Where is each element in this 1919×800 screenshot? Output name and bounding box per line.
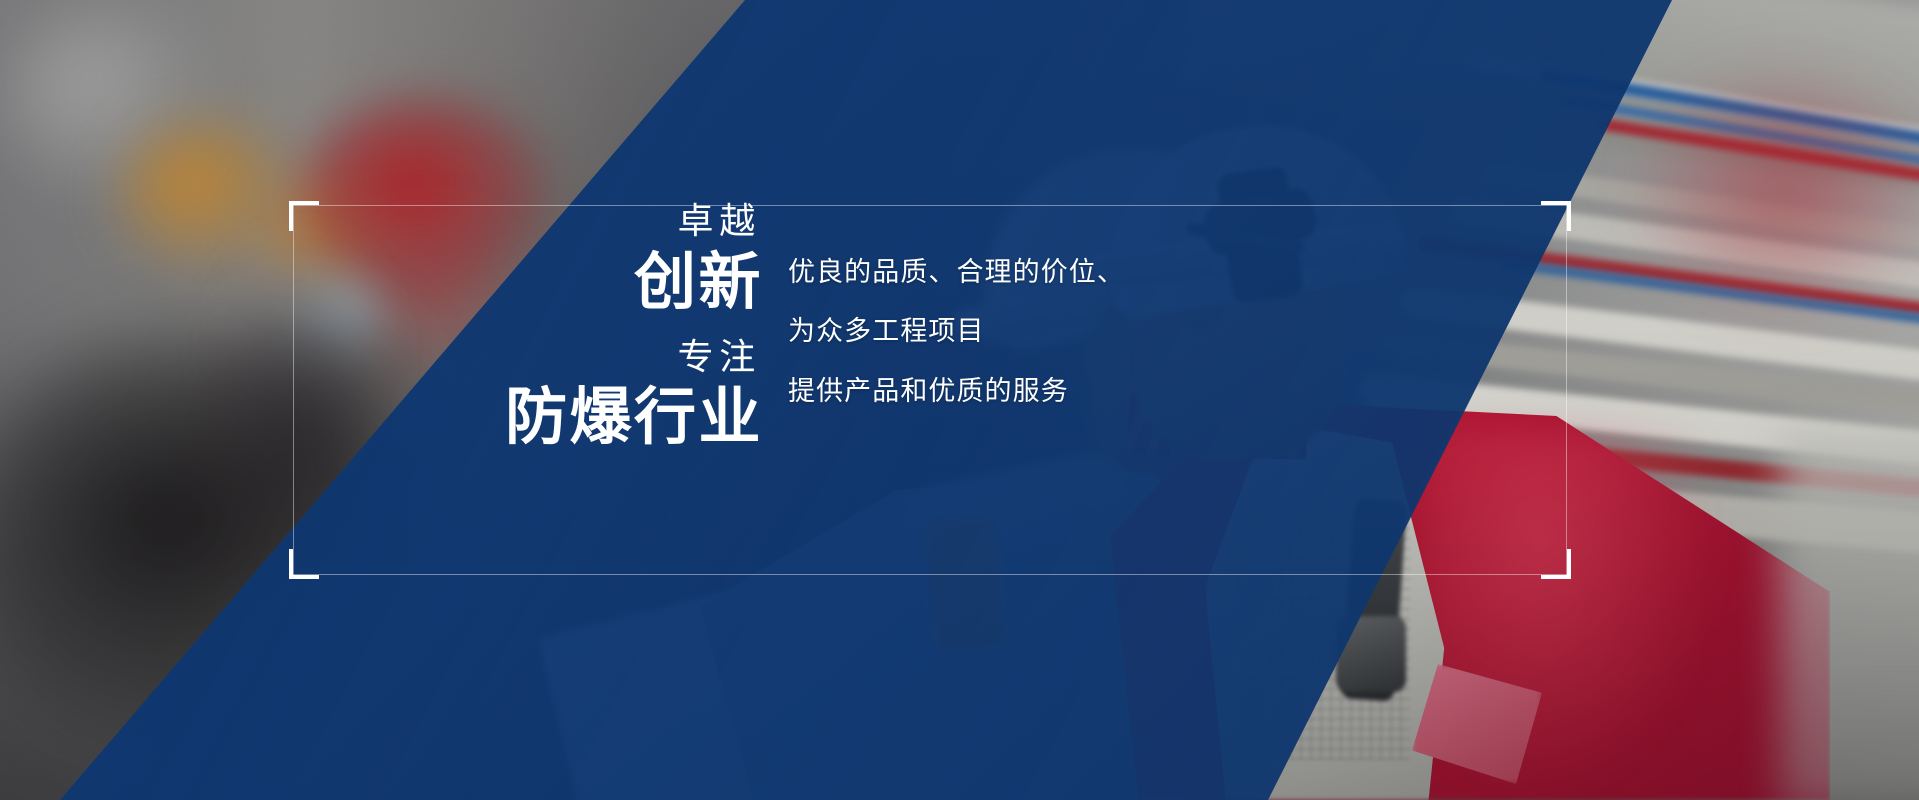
headline-spacer	[383, 323, 763, 333]
headline-line-excellence: 卓越	[383, 197, 763, 246]
headline-line-focus: 专注	[383, 333, 763, 382]
headline-line-innovation: 创新	[383, 246, 763, 319]
subtext-line-3: 提供产品和优质的服务	[788, 362, 1125, 421]
hero-banner: 卓越 创新 专注 防爆行业 优良的品质、合理的价位、 为众多工程项目 提供产品和…	[0, 0, 1919, 800]
headline-line-industry: 防爆行业	[383, 381, 763, 454]
banner-content: 卓越 创新 专注 防爆行业 优良的品质、合理的价位、 为众多工程项目 提供产品和…	[293, 205, 1567, 575]
banner-headline: 卓越 创新 专注 防爆行业	[383, 197, 763, 459]
subtext-line-2: 为众多工程项目	[788, 302, 1125, 361]
banner-subtext: 优良的品质、合理的价位、 为众多工程项目 提供产品和优质的服务	[788, 243, 1125, 421]
subtext-line-1: 优良的品质、合理的价位、	[788, 243, 1125, 302]
